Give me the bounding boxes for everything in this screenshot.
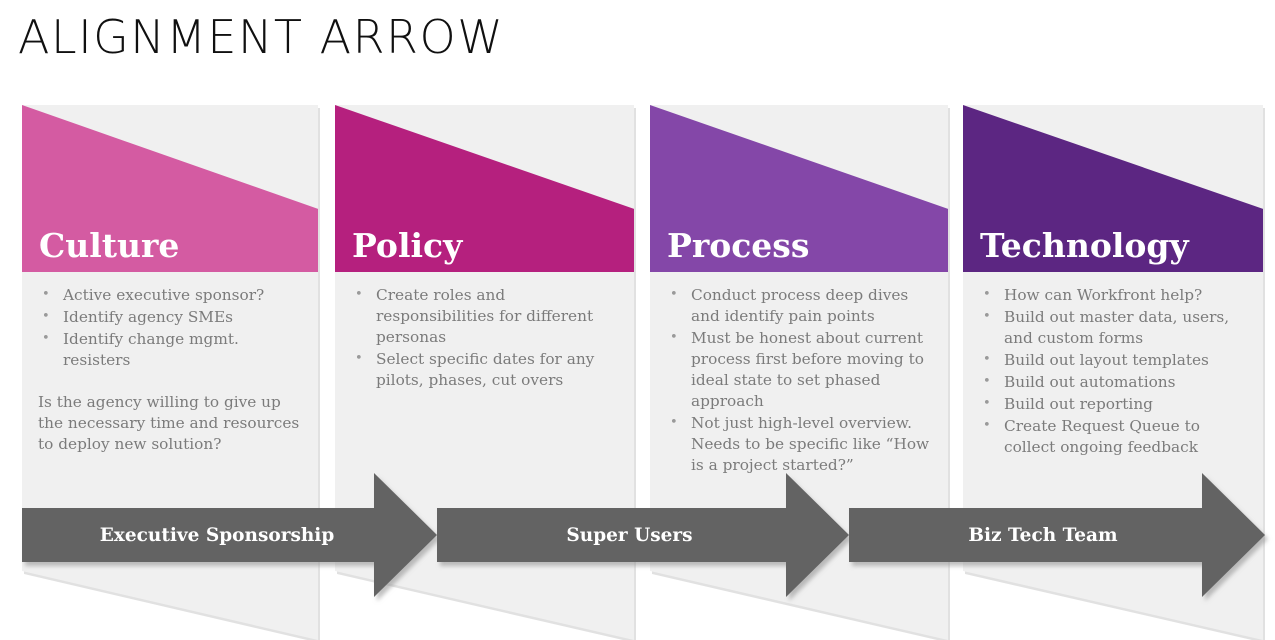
column-title: Technology bbox=[980, 229, 1189, 262]
list-item: How can Workfront help? bbox=[979, 285, 1253, 306]
arrow-label-biz-tech-team: Biz Tech Team bbox=[849, 523, 1237, 549]
slide-canvas: ALIGNMENT ARROW Culture Active executive… bbox=[0, 0, 1275, 640]
bullet-list: Conduct process deep dives and identify … bbox=[666, 285, 938, 476]
column-title: Process bbox=[667, 229, 809, 262]
bullet-list: How can Workfront help? Build out master… bbox=[979, 285, 1253, 458]
column-title: Policy bbox=[352, 229, 462, 262]
bullet-list: Active executive sponsor? Identify agenc… bbox=[38, 285, 308, 371]
list-item: Create Request Queue to collect ongoing … bbox=[979, 416, 1253, 458]
list-item: Identify change mgmt. resisters bbox=[38, 329, 308, 371]
arrow-label-super-users: Super Users bbox=[437, 523, 822, 549]
list-item: Must be honest about current process fir… bbox=[666, 328, 938, 412]
list-item: Identify agency SMEs bbox=[38, 307, 308, 328]
column-body: How can Workfront help? Build out master… bbox=[979, 285, 1253, 459]
list-item: Build out layout templates bbox=[979, 350, 1253, 371]
list-item: Not just high-level overview. Needs to b… bbox=[666, 413, 938, 476]
list-item: Build out master data, users, and custom… bbox=[979, 307, 1253, 349]
list-item: Active executive sponsor? bbox=[38, 285, 308, 306]
column-note: Is the agency willing to give up the nec… bbox=[38, 392, 303, 455]
column-body: Active executive sponsor? Identify agenc… bbox=[38, 285, 308, 455]
arrow-label-executive-sponsorship: Executive Sponsorship bbox=[22, 523, 412, 549]
list-item: Create roles and responsibilities for di… bbox=[351, 285, 624, 348]
column-body: Create roles and responsibilities for di… bbox=[351, 285, 624, 392]
bullet-list: Create roles and responsibilities for di… bbox=[351, 285, 624, 391]
page-title: ALIGNMENT ARROW bbox=[18, 14, 504, 60]
list-item: Conduct process deep dives and identify … bbox=[666, 285, 938, 327]
list-item: Select specific dates for any pilots, ph… bbox=[351, 349, 624, 391]
list-item: Build out reporting bbox=[979, 394, 1253, 415]
column-title: Culture bbox=[39, 229, 179, 262]
column-body: Conduct process deep dives and identify … bbox=[666, 285, 938, 477]
list-item: Build out automations bbox=[979, 372, 1253, 393]
